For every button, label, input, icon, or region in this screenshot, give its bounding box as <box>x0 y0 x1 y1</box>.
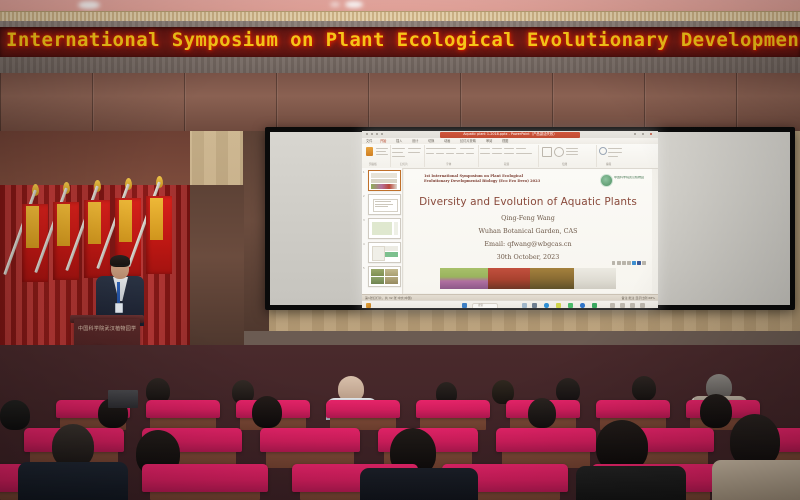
tray-icon[interactable] <box>610 303 615 308</box>
forest-canopy-photo <box>530 268 574 289</box>
ribbon-group-label: 字体 <box>446 162 451 166</box>
ribbon-group-font[interactable]: 字体 <box>424 145 479 167</box>
audience-shoulders <box>712 460 800 500</box>
ribbon-group-label: 剪贴板 <box>369 162 377 166</box>
ppt-ribbon[interactable]: 剪贴板 幻灯片 字体 <box>362 144 658 169</box>
window-control-dot[interactable] <box>381 133 383 135</box>
volume-icon[interactable] <box>620 303 625 308</box>
wood-panel <box>276 73 370 131</box>
start-icon[interactable] <box>366 303 371 308</box>
tab-file[interactable]: 文件 <box>366 139 372 144</box>
tab-transitions[interactable]: 切换 <box>428 139 434 144</box>
clock-icon[interactable] <box>640 303 645 308</box>
ribbon-group-label: 编辑 <box>606 162 611 166</box>
tab-slideshow[interactable]: 幻灯片放映 <box>460 139 476 144</box>
audience-seat[interactable] <box>496 428 596 452</box>
podium-plate-text: 中国科学院武汉植物园学术报告厅 <box>78 325 136 334</box>
ribbon-group-label: 段落 <box>504 162 509 166</box>
audience-seat[interactable] <box>260 428 360 452</box>
ceiling-light <box>345 1 363 8</box>
tab-review[interactable]: 审阅 <box>486 139 492 144</box>
stage-side-pillar <box>190 185 244 345</box>
audience-shoulders <box>18 462 128 500</box>
ribbon-group-label: 幻灯片 <box>400 162 408 166</box>
audience-seat[interactable] <box>146 400 220 418</box>
ribbon-group-slides[interactable]: 幻灯片 <box>390 145 425 167</box>
thumbnail-number: 2 <box>363 195 365 198</box>
ribbon-group-clipboard[interactable]: 剪贴板 <box>364 145 391 167</box>
wood-panel <box>368 73 462 131</box>
ribbon-group-editing[interactable]: 编辑 <box>596 145 636 167</box>
audience-head <box>0 400 30 430</box>
ribbon-group-paragraph[interactable]: 段落 <box>478 145 539 167</box>
tab-design[interactable]: 设计 <box>412 139 418 144</box>
slide-photo-strip <box>440 268 616 289</box>
audience-seat[interactable] <box>142 464 268 492</box>
wood-panel <box>92 73 186 131</box>
thumbnail-number: 5 <box>363 267 365 270</box>
twitter-icon <box>632 261 636 265</box>
mail-icon[interactable] <box>532 303 537 308</box>
wood-panel <box>552 73 646 131</box>
audience-seat[interactable] <box>596 400 670 418</box>
audience-seat[interactable] <box>416 400 490 418</box>
link-icon <box>617 261 621 265</box>
tab-insert[interactable]: 插入 <box>396 139 402 144</box>
slide-thumbnail[interactable] <box>368 170 401 191</box>
ppt-title-bar: Aquatic plant 1-2018.pptx - PowerPoint（产… <box>362 131 658 138</box>
stone-bridge-sketch <box>574 268 616 289</box>
minimize-icon[interactable] <box>634 133 636 135</box>
wechat-icon[interactable] <box>592 303 597 308</box>
wood-wall-band <box>0 73 800 131</box>
search-input[interactable] <box>472 303 498 308</box>
slide-email: Email: qfwang@wbgcas.cn <box>404 240 652 248</box>
powerpoint-icon[interactable] <box>580 303 585 308</box>
audience-head <box>632 376 656 401</box>
wuhan-botanical-garden-logo-icon <box>600 174 613 187</box>
folder-icon[interactable] <box>522 303 527 308</box>
audience-head <box>528 398 556 428</box>
window-control-dot[interactable] <box>366 133 368 135</box>
auditorium-photo: International Symposium on Plant Ecologi… <box>0 0 800 500</box>
slide-thumbnail[interactable] <box>368 194 401 215</box>
autumn-foliage-photo <box>488 268 530 289</box>
windows-taskbar[interactable]: 搜索 <box>362 300 658 308</box>
slide-thumbnail-pane[interactable]: 1 2 3 4 <box>362 168 403 294</box>
thumbnail-number: 4 <box>363 243 365 246</box>
music-icon[interactable] <box>568 303 573 308</box>
maximize-icon[interactable] <box>642 133 644 135</box>
thumbnail-number: 1 <box>363 171 365 174</box>
slide-thumbnail[interactable] <box>368 266 401 287</box>
tab-view[interactable]: 视图 <box>502 139 508 144</box>
wood-panel <box>736 73 800 131</box>
pin-icon <box>622 261 626 265</box>
ribbon-group-label: 绘图 <box>562 162 567 166</box>
arrange-icon[interactable] <box>554 147 564 157</box>
slide-affiliation: Wuhan Botanical Garden, CAS <box>404 227 652 235</box>
thumbnail-number: 3 <box>363 219 365 222</box>
wood-panel <box>460 73 554 131</box>
laptop-icon <box>108 390 138 408</box>
slide-canvas[interactable]: 1st International Symposium on Plant Eco… <box>404 169 652 293</box>
mail-icon <box>627 261 631 265</box>
paste-icon[interactable] <box>366 147 373 156</box>
slide-date: 30th October, 2023 <box>404 253 652 261</box>
audience-head <box>252 396 282 428</box>
ppt-document-title: Aquatic plant 1-2018.pptx - PowerPoint（产… <box>444 132 576 137</box>
wood-panel <box>644 73 738 131</box>
organization-name: 中国科学院武汉植物园 <box>614 176 658 183</box>
slide-presenter: Qing-Feng Wang <box>404 214 652 222</box>
slide-header-line-2: Evolutionary Developmental Biology (Eco … <box>424 179 574 184</box>
audience-shoulders <box>576 466 686 500</box>
audience-seat[interactable] <box>326 400 400 418</box>
symposium-banner: International Symposium on Plant Ecologi… <box>0 27 800 57</box>
slide-thumbnail[interactable] <box>368 242 401 263</box>
window-control-dot[interactable] <box>376 133 378 135</box>
banner-title: International Symposium on Plant Ecologi… <box>6 29 800 51</box>
audience-head <box>700 394 732 428</box>
close-icon[interactable] <box>650 133 652 135</box>
window-control-dot[interactable] <box>371 133 373 135</box>
facebook-icon <box>637 261 641 265</box>
tab-animations[interactable]: 动画 <box>444 139 450 144</box>
ribbon-group-drawing[interactable]: 绘图 <box>538 145 597 167</box>
search-icon[interactable] <box>599 147 607 155</box>
rapeseed-field-photo <box>440 268 488 289</box>
ceiling-light <box>78 1 100 9</box>
rss-icon <box>642 261 646 265</box>
share-icon <box>612 261 616 265</box>
wood-panel <box>184 73 278 131</box>
audience-shoulders <box>360 468 478 500</box>
notes-icon[interactable] <box>556 303 561 308</box>
glasses-icon <box>112 265 128 270</box>
browser-icon[interactable] <box>544 303 549 308</box>
wood-panel <box>0 73 94 131</box>
search-placeholder: 搜索 <box>478 303 483 307</box>
slide-title: Diversity and Evolution of Aquatic Plant… <box>404 196 652 208</box>
speaker-lanyard <box>117 282 120 304</box>
speaker-badge <box>115 303 123 313</box>
ceiling-light <box>330 2 340 7</box>
projected-powerpoint-window[interactable]: Aquatic plant 1-2018.pptx - PowerPoint（产… <box>362 131 658 308</box>
slide-social-icons <box>612 261 646 265</box>
network-icon[interactable] <box>630 303 635 308</box>
slide-thumbnail[interactable] <box>368 218 401 239</box>
windows-icon[interactable] <box>462 303 467 308</box>
shape-icon[interactable] <box>542 147 552 157</box>
